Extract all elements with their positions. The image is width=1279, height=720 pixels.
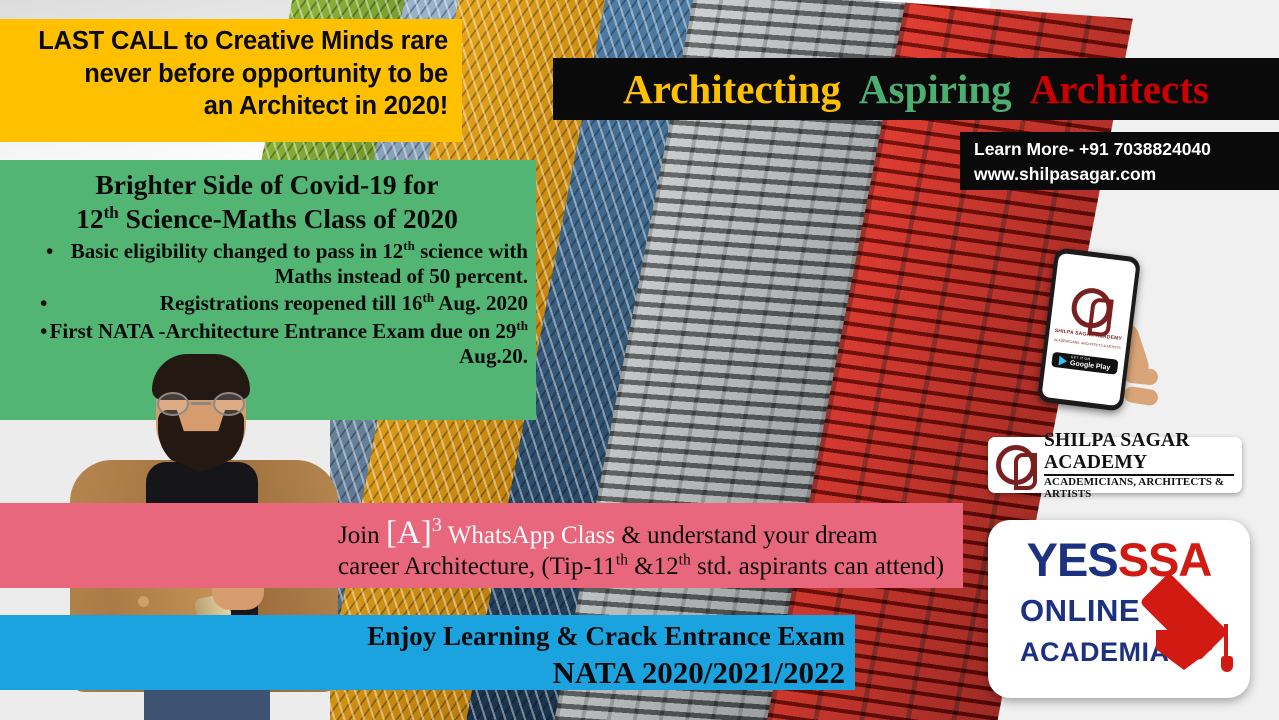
pink-career-text: career Architecture, (Tip-11	[338, 553, 616, 580]
bullet-sup: th	[403, 238, 415, 253]
contact-info-box: Learn More- +91 7038824040 www.shilpasag…	[960, 132, 1279, 190]
last-call-banner: LAST CALL to Creative Minds rare never b…	[0, 19, 462, 142]
yesssa-brand: YESSSA	[988, 536, 1250, 583]
last-call-line-1: LAST CALL to Creative Minds rare	[14, 25, 448, 58]
ssa-monogram-icon	[996, 445, 1036, 485]
bullet-sup: th	[422, 290, 434, 305]
eyeglasses-icon	[154, 392, 248, 416]
green-heading-sup: th	[104, 202, 119, 221]
green-heading-line-1: Brighter Side of Covid-19 for	[95, 169, 438, 200]
title-word-architecting: Architecting	[623, 69, 841, 110]
academy-tagline: ACADEMICIANS, ARCHITECTS & ARTISTS	[1044, 476, 1234, 500]
title-word-aspiring: Aspiring	[859, 69, 1012, 110]
whatsapp-class-label: WhatsApp Class	[448, 522, 615, 549]
nata-exam-band: Enjoy Learning & Crack Entrance Exam NAT…	[0, 615, 855, 690]
contact-phone-line: Learn More- +91 7038824040	[974, 137, 1279, 162]
green-panel-bullet-list: Basic eligibility changed to pass in 12t…	[6, 239, 528, 369]
jacket-button	[138, 596, 149, 607]
phone-in-hand-photo: SHILPA SAGAR ACADEMY ACADEMICIANS, ARCHI…	[1028, 252, 1168, 424]
pink-and-text: &12	[628, 553, 679, 580]
title-word-architects: Architects	[1030, 69, 1209, 110]
pink-band-line-2: career Architecture, (Tip-11th &12th std…	[338, 553, 944, 581]
bullet-sup: th	[516, 318, 528, 333]
pink-sup-1: th	[616, 552, 628, 569]
bullet-text-a: First NATA -Architecture Entrance Exam d…	[50, 319, 517, 343]
yesssa-online-academia-logo: YESSSA ONLINE ACADEMIA	[988, 520, 1250, 698]
bullet-item: Registrations reopened till 16th Aug. 20…	[6, 291, 528, 316]
contact-website-line[interactable]: www.shilpasagar.com	[974, 162, 1279, 187]
ssa-app-logo-icon	[1069, 286, 1114, 331]
last-call-line-2: never before opportunity to be	[14, 58, 448, 91]
pink-join-text: Join	[338, 522, 386, 549]
blue-band-line-2: NATA 2020/2021/2022	[552, 655, 845, 691]
yes-part: YES	[1027, 533, 1118, 586]
shilpa-sagar-academy-logo: SHILPA SAGAR ACADEMY ACADEMICIANS, ARCHI…	[988, 437, 1242, 493]
a-cubed-mark: [A]3	[386, 515, 442, 551]
smartphone: SHILPA SAGAR ACADEMY ACADEMICIANS, ARCHI…	[1037, 247, 1141, 411]
bullet-text-b: Aug. 2020	[434, 291, 528, 315]
hand-finger	[1123, 366, 1158, 385]
pink-band-line-1: Join [A]3 WhatsApp Class & understand yo…	[338, 515, 878, 552]
bullet-text-a: Registrations reopened till 16	[160, 291, 423, 315]
hand-finger	[1123, 385, 1159, 406]
a-exponent: 3	[432, 514, 442, 536]
main-title-banner: Architecting Aspiring Architects	[553, 58, 1279, 120]
whatsapp-class-band: Join [A]3 WhatsApp Class & understand yo…	[0, 503, 963, 588]
bullet-text-b: Aug.20.	[459, 344, 528, 368]
pink-understand-text: & understand your dream	[615, 522, 877, 549]
poster-canvas: LAST CALL to Creative Minds rare never b…	[0, 0, 1279, 720]
google-play-badge[interactable]: GET IT ON Google Play	[1051, 352, 1118, 375]
pink-aspirants-text: std. aspirants can attend)	[691, 553, 944, 580]
green-heading-line-2-pre: 12	[76, 203, 104, 234]
academy-name: SHILPA SAGAR ACADEMY	[1044, 430, 1234, 476]
bullet-text-a: Basic eligibility changed to pass in 12	[71, 239, 404, 263]
green-heading-line-2-post: Science-Maths Class of 2020	[119, 203, 458, 234]
a-bracket: [A]	[386, 515, 432, 551]
google-play-icon	[1059, 355, 1068, 366]
pink-sup-2: th	[679, 552, 691, 569]
bullet-item: Basic eligibility changed to pass in 12t…	[6, 239, 528, 289]
graduation-cap-icon	[1136, 594, 1232, 678]
last-call-line-3: an Architect in 2020!	[14, 90, 448, 123]
green-panel-heading: Brighter Side of Covid-19 for 12th Scien…	[6, 168, 528, 235]
blue-band-line-1: Enjoy Learning & Crack Entrance Exam	[367, 621, 845, 652]
phone-screen: SHILPA SAGAR ACADEMY ACADEMICIANS, ARCHI…	[1041, 253, 1136, 406]
